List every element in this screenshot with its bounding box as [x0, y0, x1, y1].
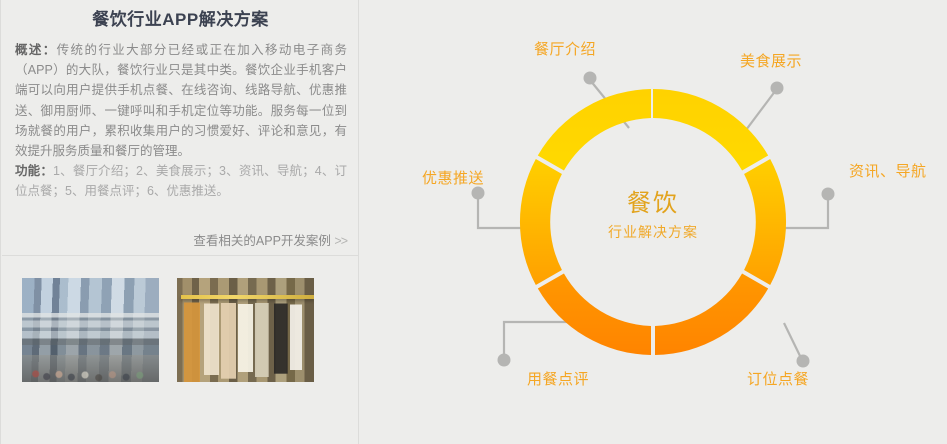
donut-label-food-showcase[interactable]: 美食展示	[740, 50, 802, 71]
thumbnail-gallery	[22, 278, 314, 382]
donut-label-news-navigation[interactable]: 资讯、导航	[849, 160, 927, 181]
donut-segment-order-seat-meal	[655, 274, 768, 356]
thumbnail-shopping-mall-atrium-photo[interactable]	[22, 278, 159, 382]
donut-center-title: 餐饮	[359, 183, 947, 218]
donut-label-restaurant-intro[interactable]: 餐厅介绍	[534, 38, 596, 59]
case-link-label: 查看相关的APP开发案例	[193, 234, 331, 248]
overview-text: 传统的行业大部分已经或正在加入移动电子商务（APP）的大队，餐饮行业只是其中类。…	[15, 43, 347, 158]
donut-label-order-seat-meal[interactable]: 订位点餐	[747, 368, 809, 389]
case-link[interactable]: 查看相关的APP开发案例 >>	[15, 230, 347, 249]
features-text: 1、餐厅介绍；2、美食展示；3、资讯、导航；4、订位点餐；5、用餐点评；6、优惠…	[15, 164, 347, 198]
donut-segment-restaurant-intro	[538, 89, 651, 171]
leader-dot-dining-review	[498, 354, 511, 367]
page-title: 餐饮行业APP解决方案	[1, 5, 360, 30]
shopping-mall-atrium-image	[22, 278, 159, 382]
features-label: 功能：	[15, 164, 53, 178]
leader-dot-food-showcase	[771, 82, 784, 95]
leader-dot-order-seat-meal	[797, 355, 810, 368]
panel-divider	[2, 255, 359, 256]
donut-center-subtitle: 行业解决方案	[359, 222, 947, 242]
donut-label-dining-review[interactable]: 用餐点评	[527, 368, 589, 389]
solution-donut-diagram: 餐饮 行业解决方案 餐厅介绍 美食展示 资讯、导航 订位点餐 用餐点评 优惠推送	[359, 0, 947, 444]
donut-segment-dining-review	[538, 274, 651, 356]
thumbnail-clothing-rack-photo[interactable]	[177, 278, 314, 382]
donut-segment-food-showcase	[653, 89, 768, 171]
panel-description: 概述：传统的行业大部分已经或正在加入移动电子商务（APP）的大队，餐饮行业只是其…	[15, 40, 347, 202]
case-link-arrows-icon: >>	[334, 234, 347, 248]
overview-label: 概述：	[15, 43, 57, 57]
page-root: 餐饮行业APP解决方案 概述：传统的行业大部分已经或正在加入移动电子商务（APP…	[0, 0, 947, 444]
clothing-rack-image	[177, 278, 314, 382]
solution-info-panel: 餐饮行业APP解决方案 概述：传统的行业大部分已经或正在加入移动电子商务（APP…	[0, 0, 359, 444]
leader-dot-restaurant-intro	[584, 72, 597, 85]
donut-label-promo-push[interactable]: 优惠推送	[422, 167, 484, 188]
